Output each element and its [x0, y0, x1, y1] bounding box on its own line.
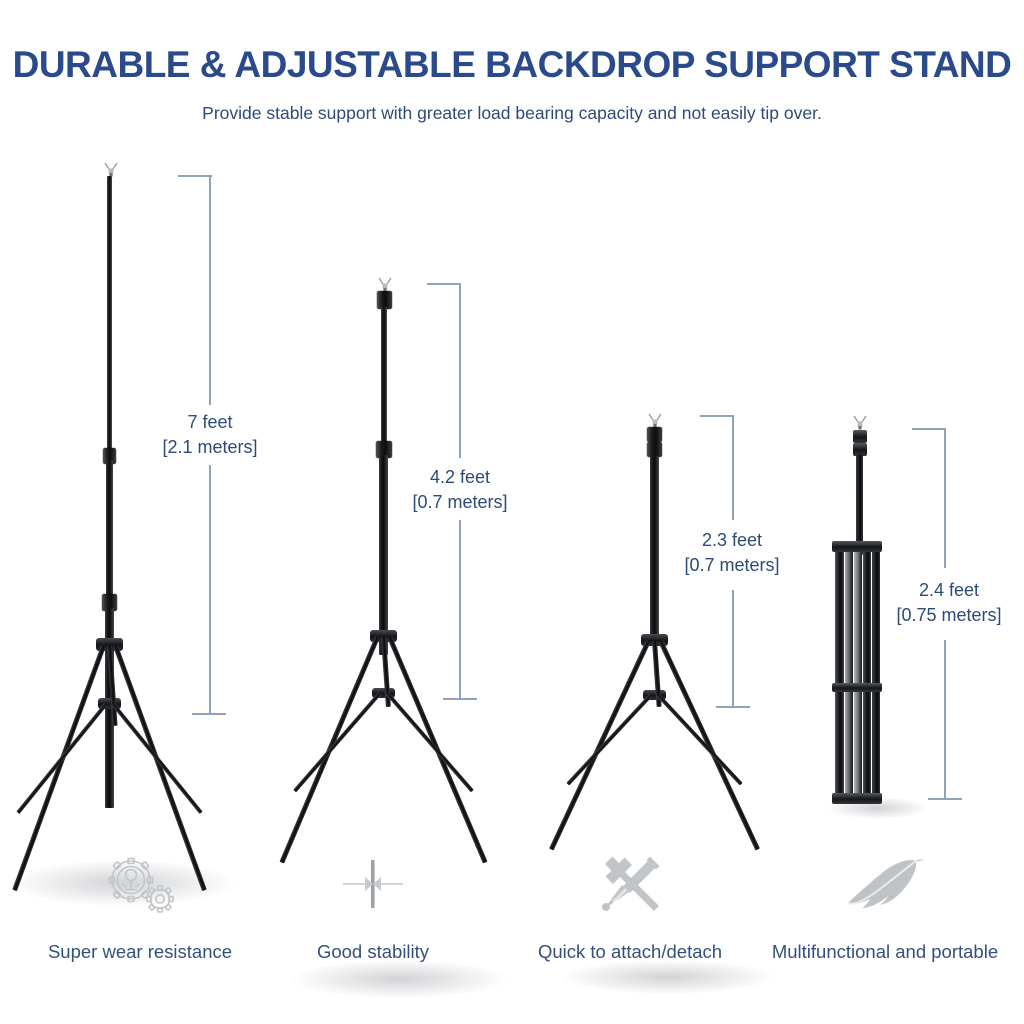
feature-label: Multifunctional and portable: [760, 939, 1010, 964]
folded-band-bottom: [832, 793, 882, 804]
spigot-fork-icon: [376, 277, 394, 292]
measure-meters: [0.7 meters]: [400, 490, 520, 515]
tripod-brace-left: [566, 694, 652, 786]
page-subtitle: Provide stable support with greater load…: [0, 103, 1024, 124]
dim-line: [209, 175, 211, 405]
dim-tick-top: [178, 175, 212, 177]
stand-mid-extended: [280, 275, 520, 755]
dim-line: [944, 640, 946, 800]
feature-icon-wrap: [760, 845, 1010, 923]
measure-meters: [2.1 meters]: [150, 435, 270, 460]
lock-collar-second: [647, 442, 662, 457]
spigot-fork-icon: [646, 413, 664, 428]
measure-meters: [0.75 meters]: [884, 603, 1014, 628]
feature-multifunctional-portable: Multifunctional and portable: [760, 845, 1010, 964]
folded-band-top: [832, 541, 882, 552]
measure-meters: [0.7 meters]: [672, 553, 792, 578]
product-infographic: DURABLE & ADJUSTABLE BACKDROP SUPPORT ST…: [0, 0, 1024, 1024]
pole-section-top: [381, 307, 387, 447]
pole-section-top: [107, 176, 112, 456]
dim-line: [944, 428, 946, 568]
pole-section-middle: [106, 460, 113, 600]
tripod-brace-right: [111, 703, 202, 814]
spigot-fork-icon: [102, 162, 120, 177]
feature-good-stability: Good stability: [248, 845, 498, 964]
dim-line: [209, 465, 211, 715]
lock-collar-top: [853, 430, 867, 443]
lock-collar-top: [647, 427, 662, 442]
tripod-leg-right: [658, 640, 760, 851]
tripod-brace-left: [293, 692, 381, 793]
dimension-label-folded: 2.4 feet [0.75 meters]: [884, 578, 1014, 628]
dim-tick-bottom: [716, 706, 750, 708]
measure-feet: 2.4 feet: [884, 578, 1014, 603]
pole-section-bottom: [650, 456, 659, 636]
feather-icon: [838, 853, 932, 915]
folded-leg-2: [845, 543, 853, 801]
floor-shadow: [292, 960, 507, 998]
dim-tick-bottom: [192, 713, 226, 715]
tools-icon: [592, 851, 668, 917]
feature-icon-wrap: [505, 845, 755, 923]
tripod-brace-left: [16, 703, 107, 814]
folded-leg-3: [854, 543, 862, 801]
dim-tick-top: [912, 428, 946, 430]
dim-tick-bottom: [443, 698, 477, 700]
folded-leg-4: [863, 543, 871, 801]
pole-section-bottom: [379, 455, 388, 655]
dim-tick-top: [700, 415, 734, 417]
dim-line: [732, 415, 734, 520]
folded-leg-1: [835, 543, 844, 801]
feature-icon-wrap: [248, 845, 498, 923]
folded-leg-5: [872, 543, 880, 801]
feature-icon-wrap: [15, 845, 265, 923]
dimension-label-low: 2.3 feet [0.7 meters]: [672, 528, 792, 578]
feature-super-wear-resistance: Super wear resistance: [15, 845, 265, 964]
stand-full-extended: [0, 160, 250, 800]
floor-shadow: [563, 960, 773, 994]
folded-band-middle: [832, 683, 882, 692]
dim-tick-bottom: [928, 798, 962, 800]
compression-arrows-icon: [327, 854, 419, 914]
dim-line: [459, 520, 461, 700]
spigot-fork-icon: [851, 415, 869, 430]
feature-label: Quick to attach/detach: [505, 939, 755, 964]
dimension-label-full: 7 feet [2.1 meters]: [150, 410, 270, 460]
measure-feet: 2.3 feet: [672, 528, 792, 553]
gears-icon: [103, 853, 177, 915]
dim-line: [459, 283, 461, 458]
dimension-label-mid: 4.2 feet [0.7 meters]: [400, 465, 520, 515]
tripod-brace-right: [385, 692, 473, 793]
stand-low-extended: [545, 412, 785, 762]
page-title: DURABLE & ADJUSTABLE BACKDROP SUPPORT ST…: [0, 44, 1024, 86]
center-column: [856, 455, 863, 555]
feature-label: Super wear resistance: [15, 939, 265, 964]
feature-quick-attach-detach: Quick to attach/detach: [505, 845, 755, 964]
dim-line: [732, 590, 734, 708]
dim-tick-top: [427, 283, 461, 285]
measure-feet: 7 feet: [150, 410, 270, 435]
feature-label: Good stability: [248, 939, 498, 964]
measure-feet: 4.2 feet: [400, 465, 520, 490]
